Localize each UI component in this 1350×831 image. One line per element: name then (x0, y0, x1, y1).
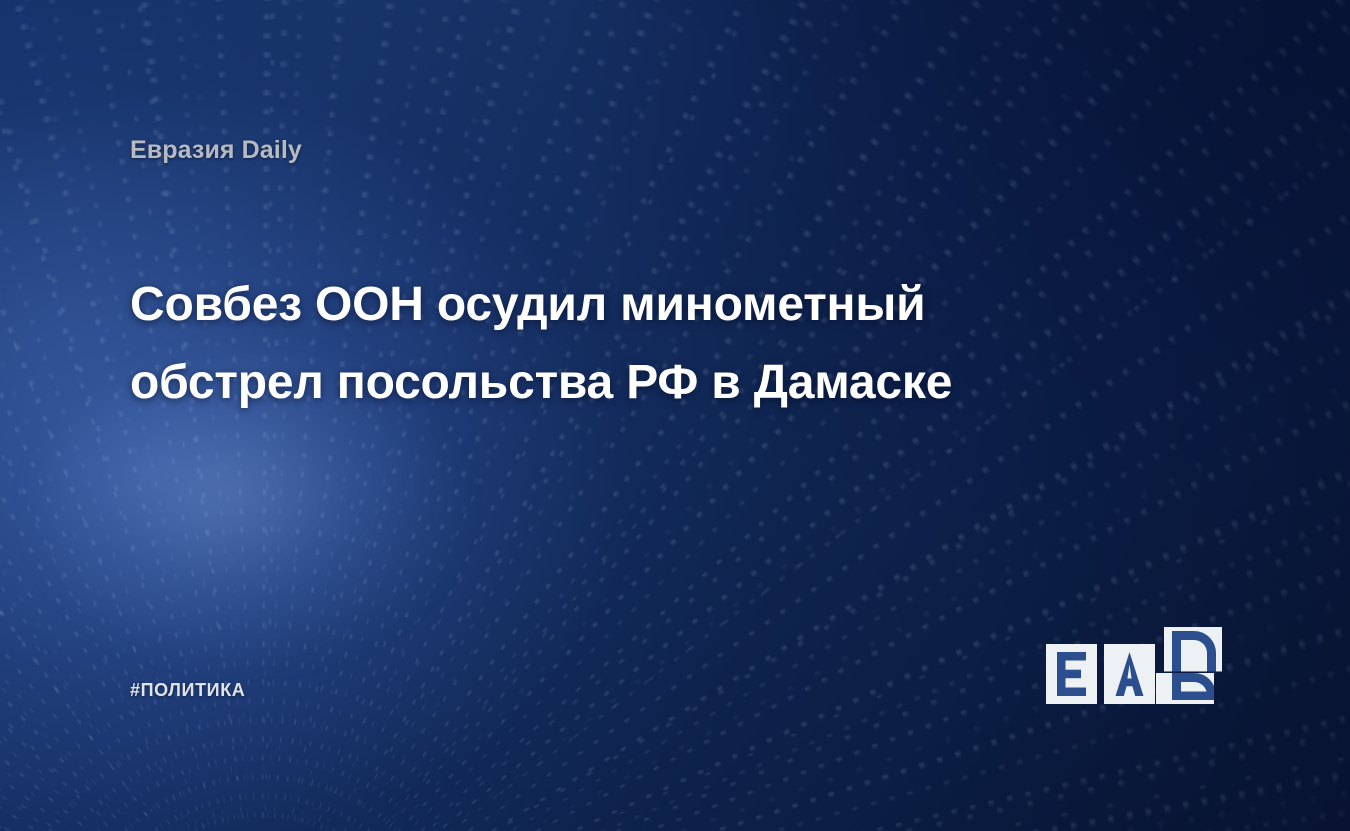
logo-tile-a (1104, 644, 1155, 704)
logo-tile-d-bottom (1156, 673, 1214, 704)
logo-tile-e (1046, 644, 1097, 704)
category-tag: #ПОЛИТИКА (130, 680, 245, 701)
brand-name: Евразия Daily (130, 136, 302, 165)
logo-tile-seam (1156, 671, 1222, 673)
news-card: Евразия Daily Совбез ООН осудил минометн… (0, 0, 1350, 831)
ead-logo (1046, 627, 1222, 704)
logo-tile-d-top (1164, 627, 1222, 672)
page-title: Совбез ООН осудил минометный обстрел пос… (130, 266, 1090, 422)
